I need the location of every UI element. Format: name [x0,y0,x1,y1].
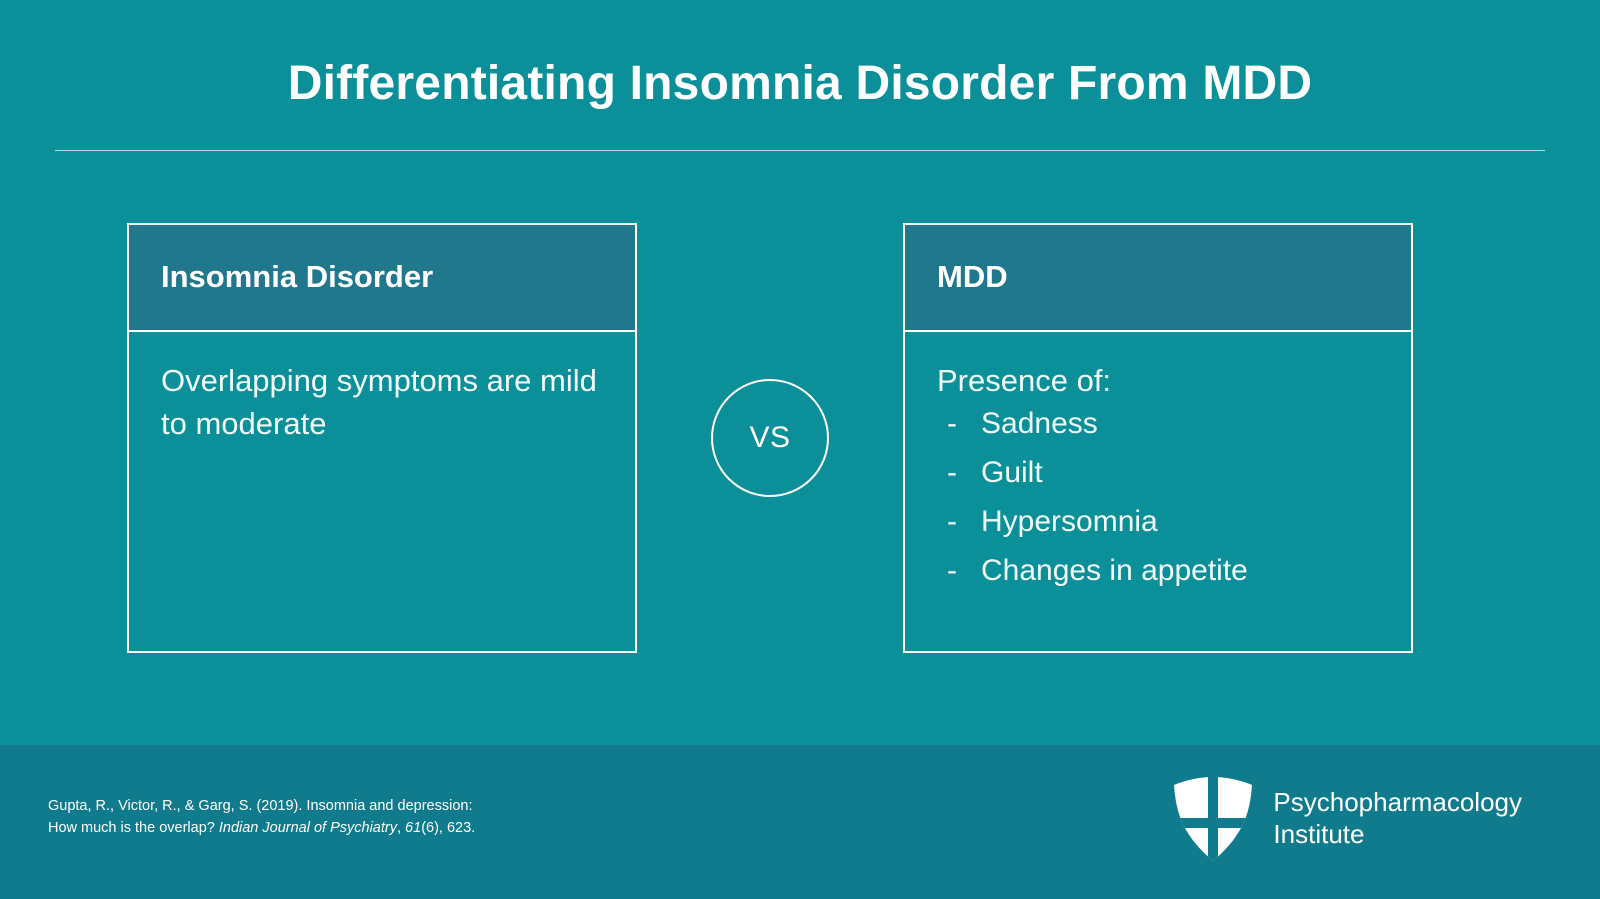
bullet-marker-icon: - [947,507,981,537]
list-item: - Changes in appetite [947,556,1385,586]
brand-logo: Psychopharmacology Institute [1171,775,1522,863]
brand-name: Psychopharmacology Institute [1273,787,1522,850]
card-body-text-left: Overlapping symptoms are mild to moderat… [161,360,609,446]
citation-text: Gupta, R., Victor, R., & Garg, S. (2019)… [48,795,748,840]
vs-badge: VS [711,379,829,497]
shield-icon [1171,775,1255,863]
mdd-symptom-list: - Sadness - Guilt - Hypersomnia - Change… [937,409,1385,586]
card-title-insomnia-disorder: Insomnia Disorder [161,260,433,294]
list-item-label: Changes in appetite [981,556,1248,586]
card-header-right: MDD [905,225,1411,332]
citation-line-1: Gupta, R., Victor, R., & Garg, S. (2019)… [48,795,748,817]
title-divider [55,150,1545,151]
card-body-left: Overlapping symptoms are mild to moderat… [129,332,635,446]
citation-journal-name: Indian Journal of Psychiatry [219,820,397,836]
citation-line-2: How much is the overlap? Indian Journal … [48,817,748,839]
list-item: - Sadness [947,409,1385,439]
card-body-right: Presence of: - Sadness - Guilt - Hyperso… [905,332,1411,586]
title-block: Differentiating Insomnia Disorder From M… [0,58,1600,111]
comparison-card-right: MDD Presence of: - Sadness - Guilt - Hyp… [903,223,1413,653]
page-title: Differentiating Insomnia Disorder From M… [0,58,1600,111]
brand-name-line-1: Psychopharmacology [1273,787,1522,817]
citation-line-2-suffix: (6), 623. [421,820,475,836]
bullet-marker-icon: - [947,458,981,488]
card-title-mdd: MDD [937,260,1008,294]
list-item: - Guilt [947,458,1385,488]
bullet-marker-icon: - [947,556,981,586]
brand-name-line-2: Institute [1273,819,1522,851]
card-body-text-right: Presence of: [937,360,1385,403]
list-item-label: Guilt [981,458,1043,488]
comparison-card-left: Insomnia Disorder Overlapping symptoms a… [127,223,637,653]
card-header-left: Insomnia Disorder [129,225,635,332]
list-item-label: Sadness [981,409,1098,439]
vs-label: VS [749,421,790,455]
list-item: - Hypersomnia [947,507,1385,537]
citation-comma: , [397,820,405,836]
citation-line-2-prefix: How much is the overlap? [48,820,219,836]
list-item-label: Hypersomnia [981,507,1158,537]
bullet-marker-icon: - [947,409,981,439]
citation-volume: 61 [405,820,421,836]
slide-canvas: Differentiating Insomnia Disorder From M… [0,0,1600,899]
